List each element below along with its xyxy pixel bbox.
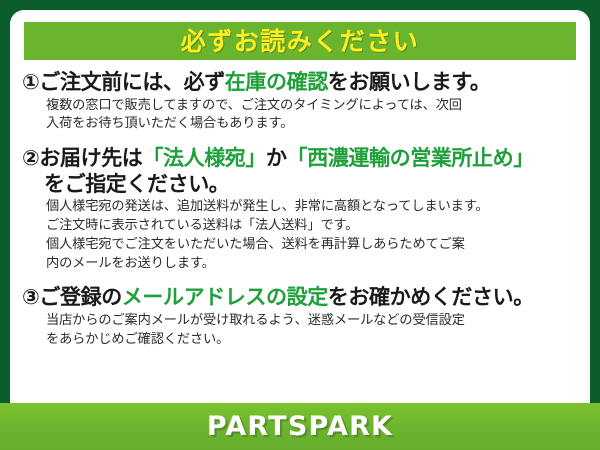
header-banner: 必ずお読みください: [24, 22, 576, 60]
notice-item-2: ②お届け先は「法人様宛」か「西濃運輸の営業所止め」 をご指定ください。 個人様宅…: [22, 146, 578, 273]
item-3-heading-part-0: ご登録の: [39, 285, 121, 309]
item-1-description: 複数の窓口で販売してますので、ご注文のタイミングによっては、次回 入荷をお待ち頂…: [22, 97, 578, 134]
item-2-description-line-4: 内のメールをお送りします。: [46, 255, 578, 274]
item-2-marker: ②: [22, 146, 39, 170]
item-1-marker: ①: [22, 70, 39, 94]
item-2-description-line-3: 個人様宅宛でご注文をいただいた場合、送料を再計算しあらためてご案: [46, 236, 578, 255]
item-2-heading-part-2: か: [266, 146, 287, 170]
item-1-description-line-1: 複数の窓口で販売してますので、ご注文のタイミングによっては、次回: [46, 97, 578, 116]
item-2-description-line-2: ご注文時に表示されている送料は「法人送料」です。: [46, 217, 578, 236]
notice-card: 必ずお読みください ①ご注文前には、必ず在庫の確認をお願いします。 複数の窓口で…: [10, 10, 590, 450]
item-1-heading-part-0: ご注文前には、必ず: [39, 70, 224, 94]
item-1-description-line-2: 入荷をお待ち頂いただく場合もあります。: [46, 115, 578, 134]
item-3-description-line-1: 当店からのご案内メールが受け取れるよう、迷惑メールなどの受信設定: [46, 312, 578, 331]
item-3-description: 当店からのご案内メールが受け取れるよう、迷惑メールなどの受信設定 をあらかじめご…: [22, 312, 578, 349]
item-3-heading: ③ご登録のメールアドレスの設定をお確かめください。: [22, 285, 578, 311]
item-3-heading-highlight: メールアドレスの設定: [122, 285, 328, 309]
item-2-heading-highlight-2: 「西濃運輸の営業所止め」: [287, 146, 534, 170]
item-2-heading: ②お届け先は「法人様宛」か「西濃運輸の営業所止め」: [22, 146, 578, 172]
item-3-heading-part-2: をお確かめください。: [328, 285, 534, 309]
brand-wordmark: PARTSPARK: [207, 413, 393, 440]
item-2-description-line-1: 個人様宅宛の発送は、追加送料が発生し、非常に高額となってしまいます。: [46, 198, 578, 217]
item-2-heading-line-2: をご指定ください。: [22, 172, 578, 198]
item-3-marker: ③: [22, 285, 39, 309]
item-1-heading-highlight: 在庫の確認: [225, 70, 328, 94]
item-1-heading: ①ご注文前には、必ず在庫の確認をお願いします。: [22, 70, 578, 96]
notice-item-1: ①ご注文前には、必ず在庫の確認をお願いします。 複数の窓口で販売してますので、ご…: [22, 70, 578, 134]
page-title: 必ずお読みください: [181, 29, 420, 54]
notice-body: ①ご注文前には、必ず在庫の確認をお願いします。 複数の窓口で販売してますので、ご…: [10, 60, 590, 349]
item-2-description: 個人様宅宛の発送は、追加送料が発生し、非常に高額となってしまいます。 ご注文時に…: [22, 198, 578, 273]
item-2-heading-highlight-1: 「法人様宛」: [142, 146, 266, 170]
item-3-description-line-2: をあらかじめご確認ください。: [46, 331, 578, 350]
notice-item-3: ③ご登録のメールアドレスの設定をお確かめください。 当店からのご案内メールが受け…: [22, 285, 578, 349]
item-2-heading-part-0: お届け先は: [39, 146, 142, 170]
notice-outer-frame: 必ずお読みください ①ご注文前には、必ず在庫の確認をお願いします。 複数の窓口で…: [0, 0, 600, 450]
footer-brand-band: PARTSPARK: [0, 403, 600, 450]
item-1-heading-part-2: をお願いします。: [328, 70, 491, 94]
